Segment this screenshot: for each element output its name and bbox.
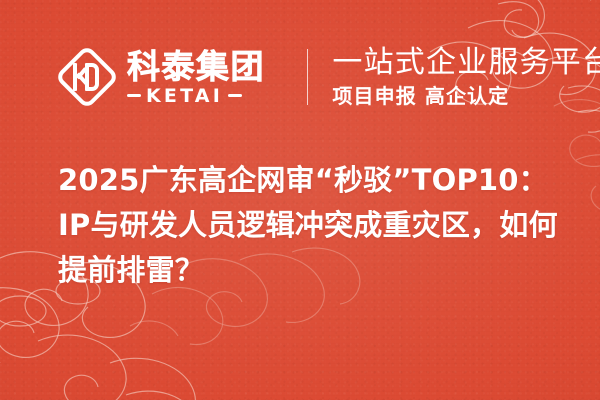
- promo-banner: 科泰集团 KETAI 一站式企业服务平台 项目申报 高企认定 2025广东高企网…: [0, 0, 600, 400]
- brand-name-english-row: KETAI: [127, 86, 277, 106]
- slogan-primary: 一站式企业服务平台: [332, 46, 600, 80]
- brand-name-english: KETAI: [146, 86, 223, 106]
- slogan-block: 一站式企业服务平台 项目申报 高企认定: [332, 46, 600, 108]
- brand-rule-right: [228, 94, 242, 97]
- brand-wordmark: 科泰集团 KETAI: [127, 49, 277, 106]
- brand-rule-left: [127, 94, 141, 97]
- logo-letter-d-bowl: [86, 63, 99, 91]
- ketai-diamond-monogram-logo-icon: [56, 46, 118, 108]
- slogan-secondary: 项目申报 高企认定: [332, 84, 600, 108]
- header-vertical-divider: [307, 49, 308, 105]
- banner-header: 科泰集团 KETAI 一站式企业服务平台 项目申报 高企认定: [0, 36, 600, 118]
- page-title: 2025广东高企网审“秒驳”TOP10：IP与研发人员逻辑冲突成重灾区，如何提前…: [58, 158, 558, 293]
- headline-block: 2025广东高企网审“秒驳”TOP10：IP与研发人员逻辑冲突成重灾区，如何提前…: [58, 158, 558, 293]
- brand-name-chinese: 科泰集团: [127, 49, 277, 84]
